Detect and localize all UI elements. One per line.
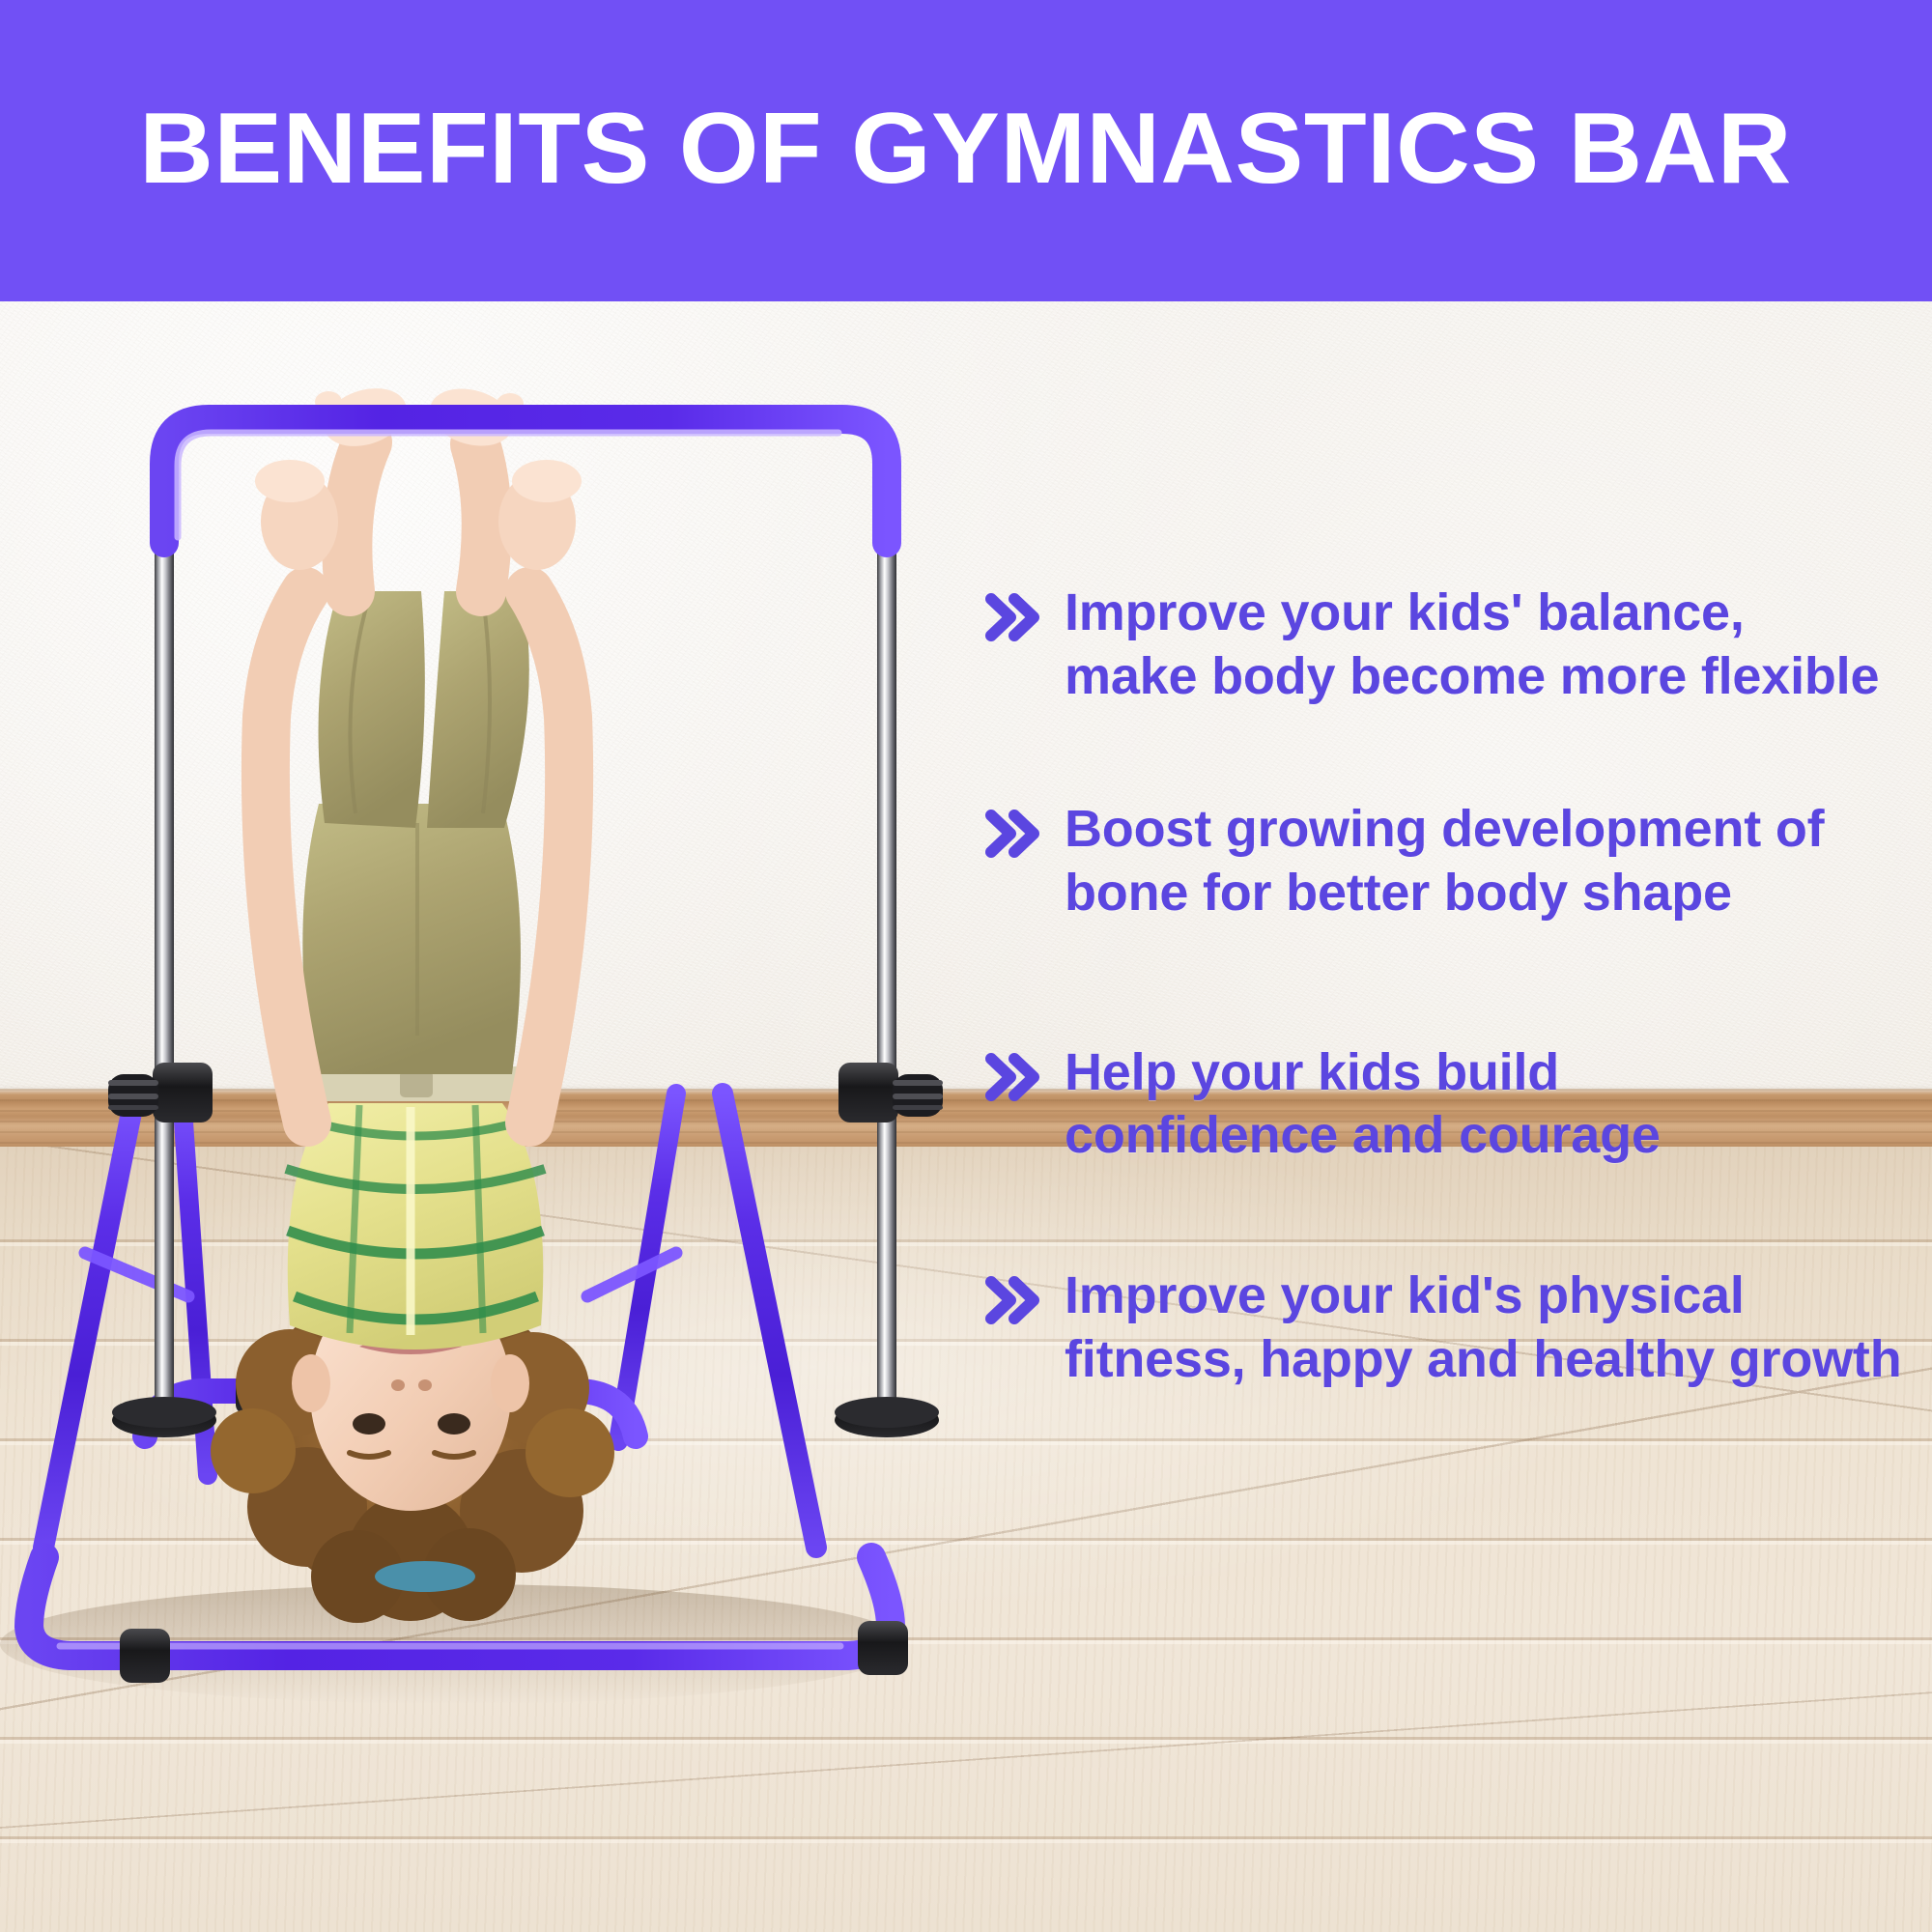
benefit-text: Improve your kids' balance, make body be… — [1065, 582, 1879, 709]
benefit-text: Boost growing development of bone for be… — [1065, 798, 1824, 925]
adjustment-knob-left[interactable] — [108, 1063, 213, 1122]
gymnastics-bar-product — [0, 301, 976, 1932]
benefit-item: Improve your kid's physical fitness, hap… — [985, 1264, 1913, 1392]
benefit-item: Improve your kids' balance, make body be… — [985, 582, 1913, 709]
product-photo-scene: Improve your kids' balance, make body be… — [0, 301, 1932, 1932]
child-hand-right — [498, 460, 582, 570]
rubber-foot-cap — [858, 1621, 908, 1675]
child-hand-left — [255, 460, 338, 570]
benefit-text: Improve your kid's physical fitness, hap… — [1065, 1264, 1902, 1392]
rubber-foot-cap — [120, 1629, 170, 1683]
double-chevron-right-icon — [985, 808, 1041, 860]
benefit-item: Help your kids build confidence and cour… — [985, 1041, 1913, 1169]
benefit-text: Help your kids build confidence and cour… — [1065, 1041, 1661, 1169]
telescoping-chrome-upright-right — [835, 491, 939, 1437]
benefit-item: Boost growing development of bone for be… — [985, 798, 1913, 925]
child-shirt — [286, 1103, 545, 1350]
header-banner: BENEFITS OF GYMNASTICS BAR — [0, 0, 1932, 301]
page-title: BENEFITS OF GYMNASTICS BAR — [140, 99, 1793, 203]
double-chevron-right-icon — [985, 1274, 1041, 1326]
benefits-list: Improve your kids' balance, make body be… — [985, 582, 1913, 1392]
child-gymnast — [211, 379, 614, 1623]
child-pants — [302, 591, 528, 1074]
double-chevron-right-icon — [985, 1051, 1041, 1103]
adjustment-knob-right[interactable] — [838, 1063, 943, 1122]
double-chevron-right-icon — [985, 591, 1041, 643]
